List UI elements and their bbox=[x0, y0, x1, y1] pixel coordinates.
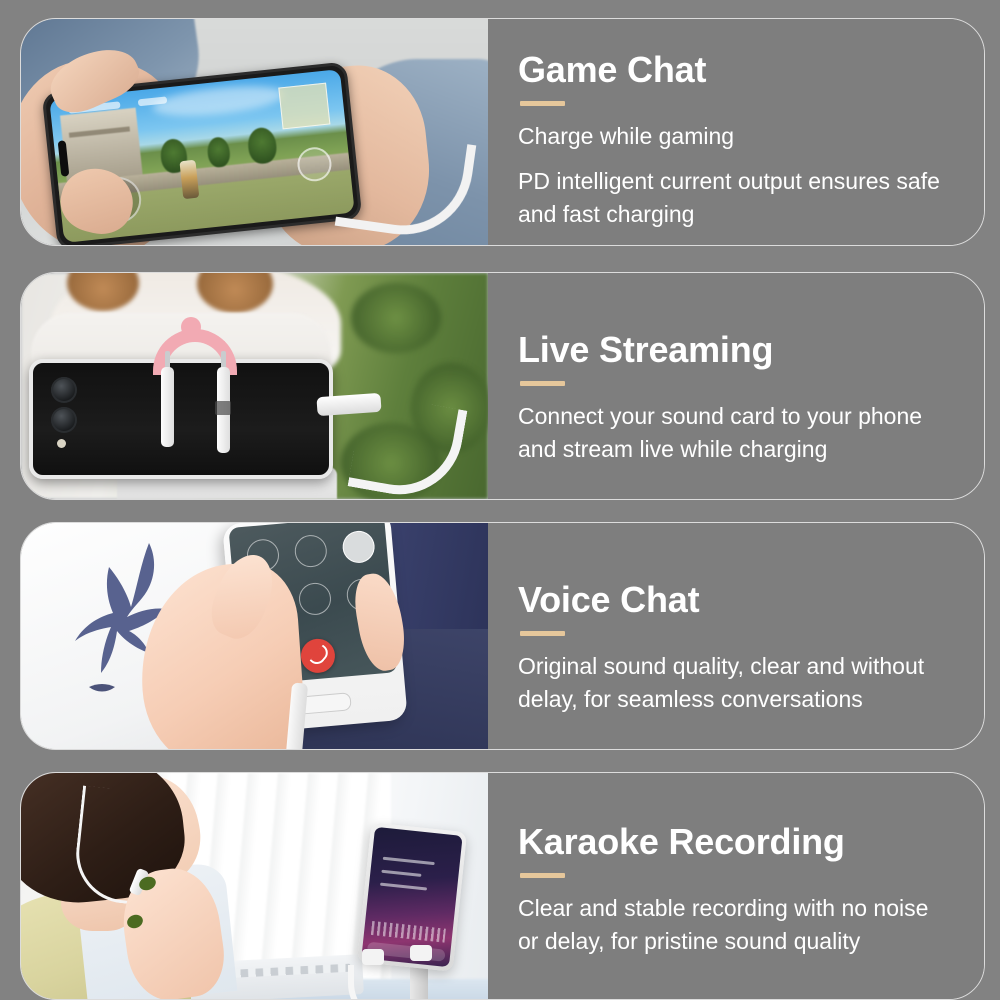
feature-line: Connect your sound card to your phone an… bbox=[518, 400, 948, 466]
speaker-icon bbox=[341, 530, 376, 565]
lyric-line bbox=[381, 870, 422, 877]
feature-title: Game Chat bbox=[518, 49, 984, 91]
feature-card-voice-chat: Voice Chat Original sound quality, clear… bbox=[20, 522, 985, 750]
cloud bbox=[152, 81, 285, 120]
camera-flash bbox=[57, 439, 66, 448]
feature-line: PD intelligent current output ensures sa… bbox=[518, 165, 948, 231]
game-fire-button bbox=[296, 145, 333, 182]
feature-card-live-streaming: Live Streaming Connect your sound card t… bbox=[20, 272, 985, 500]
stand-grip-right bbox=[410, 945, 432, 961]
charging-cable bbox=[348, 965, 414, 999]
game-character bbox=[179, 160, 199, 199]
game-minimap bbox=[279, 82, 331, 129]
keypad-icon bbox=[293, 534, 328, 569]
feature-title: Karaoke Recording bbox=[518, 821, 984, 863]
lyric-line bbox=[380, 883, 428, 891]
game-tree bbox=[206, 136, 231, 168]
feature-card-game-chat: Game Chat Charge while gaming PD intelli… bbox=[20, 18, 985, 246]
stand-grip-left bbox=[362, 949, 384, 965]
feature-title: Voice Chat bbox=[518, 579, 984, 621]
lyric-line bbox=[382, 857, 435, 866]
feature-text-voice-chat: Voice Chat Original sound quality, clear… bbox=[488, 523, 984, 749]
title-accent-bar bbox=[520, 631, 565, 636]
title-accent-bar bbox=[520, 873, 565, 878]
audio-waveform bbox=[371, 921, 446, 943]
white-connector-left bbox=[161, 367, 174, 447]
feature-photo-karaoke-recording bbox=[21, 773, 488, 999]
feature-text-karaoke-recording: Karaoke Recording Clear and stable recor… bbox=[488, 773, 984, 999]
feature-card-karaoke-recording: Karaoke Recording Clear and stable recor… bbox=[20, 772, 985, 1000]
feature-line: Original sound quality, clear and withou… bbox=[518, 650, 948, 716]
connector-label bbox=[215, 401, 231, 415]
feature-photo-live-streaming bbox=[21, 273, 488, 499]
title-accent-bar bbox=[520, 101, 565, 106]
product-feature-infographic: Game Chat Charge while gaming PD intelli… bbox=[0, 0, 1000, 1000]
camera-lens-top bbox=[51, 377, 77, 403]
title-accent-bar bbox=[520, 381, 565, 386]
foliage bbox=[351, 283, 441, 353]
feature-title: Live Streaming bbox=[518, 329, 984, 371]
black-phone-back bbox=[29, 359, 333, 479]
feature-photo-voice-chat bbox=[21, 523, 488, 749]
feature-text-live-streaming: Live Streaming Connect your sound card t… bbox=[488, 273, 984, 499]
video-call-icon bbox=[298, 582, 333, 617]
end-call-button bbox=[300, 637, 337, 674]
feature-photo-game-chat bbox=[21, 19, 488, 245]
feature-text-game-chat: Game Chat Charge while gaming PD intelli… bbox=[488, 19, 984, 245]
camera-lens-bottom bbox=[51, 407, 77, 433]
feature-line: Clear and stable recording with no noise… bbox=[518, 892, 948, 958]
feature-line: Charge while gaming bbox=[518, 120, 948, 153]
